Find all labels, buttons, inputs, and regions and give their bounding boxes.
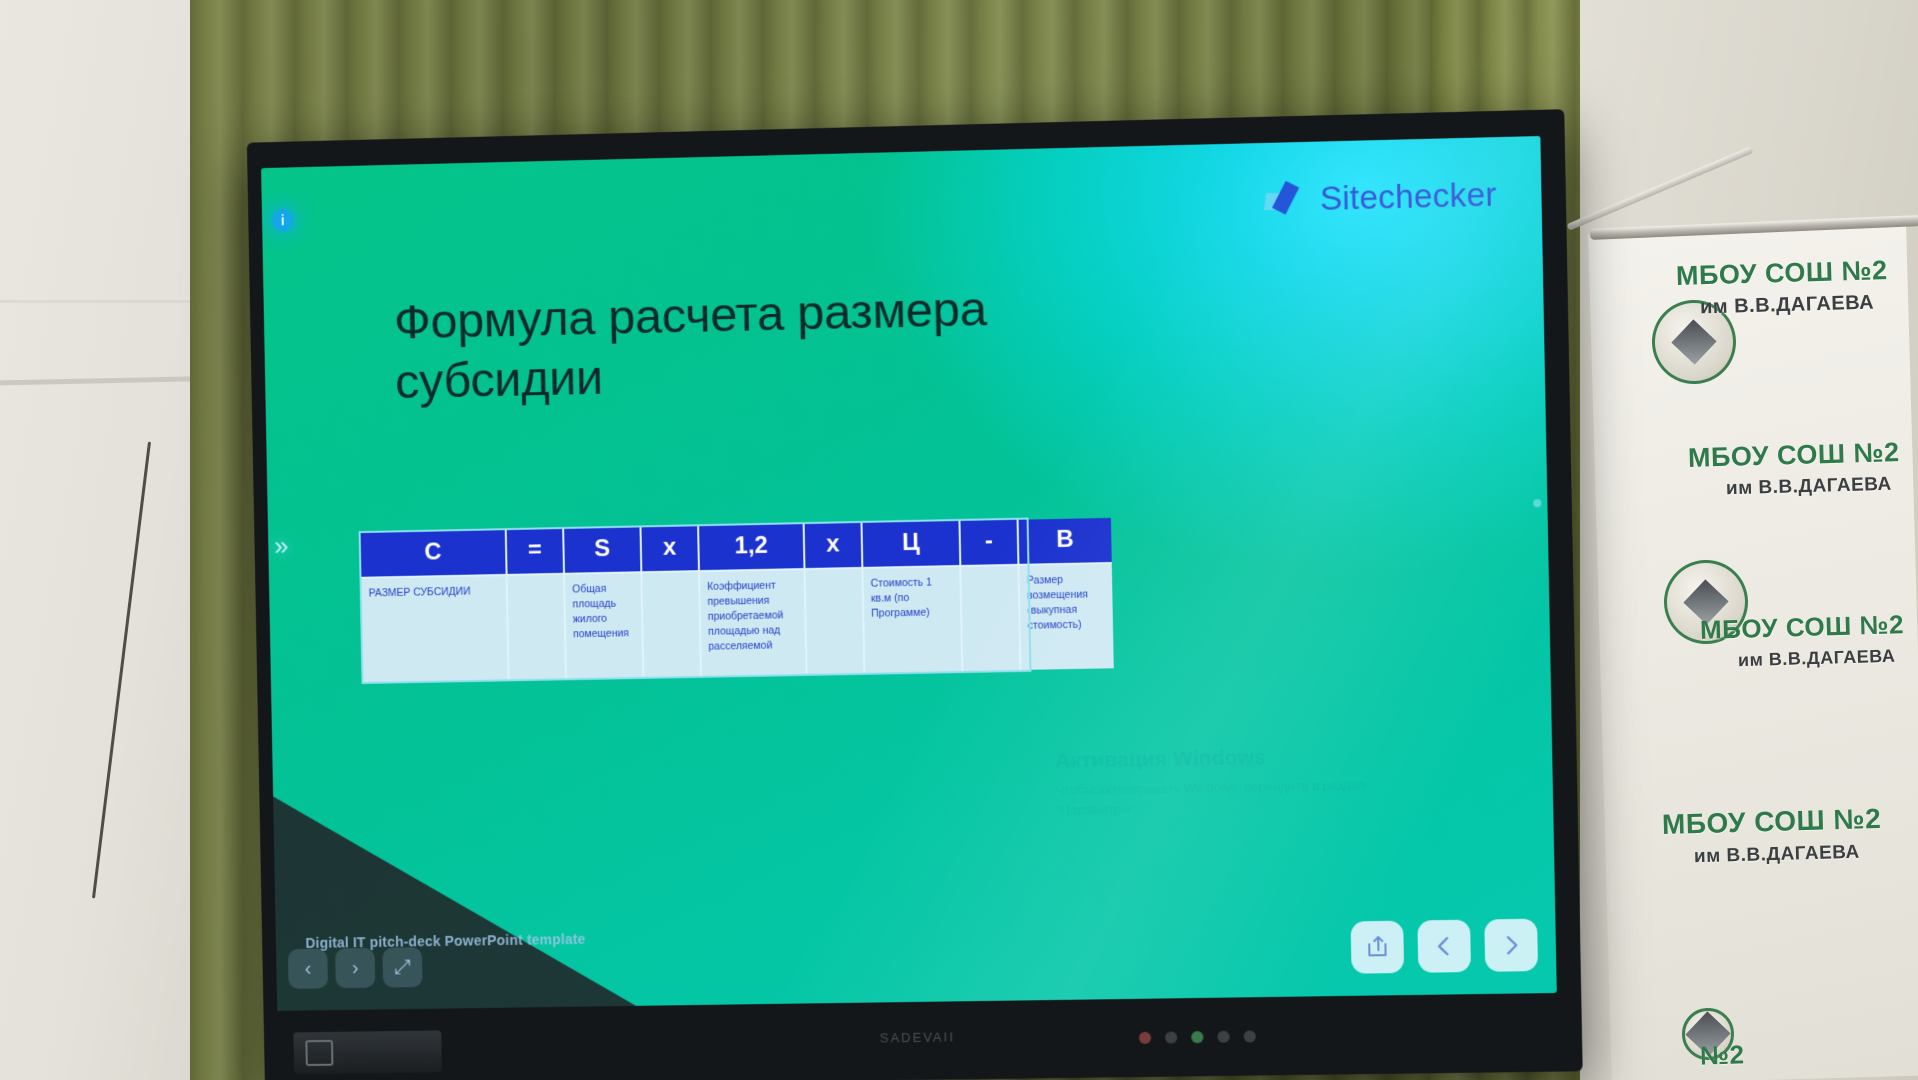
formula-column: СРАЗМЕР СУБСИДИИ (361, 530, 510, 682)
formula-body-cell: Размер возмещения (выкупная стоимость) (1019, 564, 1113, 670)
formula-body-cell: Общая площадь жилого помещения (565, 573, 642, 678)
previous-slide-button[interactable] (1417, 920, 1471, 973)
formula-column: ЦСтоимость 1 кв.м (по Программе) (862, 521, 963, 673)
info-badge[interactable]: i (272, 209, 294, 231)
player-controls-right (1351, 919, 1539, 974)
activation-heading: Активация Windows (1055, 744, 1365, 773)
banner-text: им В.В.ДАГАЕВА (1694, 842, 1860, 869)
tv-port-row (1139, 1021, 1402, 1051)
port-indicator (1217, 1031, 1229, 1043)
formula-body-cell: Стоимость 1 кв.м (по Программе) (863, 567, 961, 673)
logo-wordmark: Sitechecker (1320, 175, 1498, 218)
formula-column: = (507, 529, 567, 679)
formula-body-cell (806, 569, 864, 674)
room-scene: МБОУ СОШ №2 им В.В.ДАГАЕВА МБОУ СОШ №2 и… (0, 0, 1918, 1080)
port-indicator (1244, 1030, 1256, 1042)
formula-column: ВРазмер возмещения (выкупная стоимость) (1019, 518, 1114, 670)
formula-body-cell: РАЗМЕР СУБСИДИИ (361, 576, 507, 682)
formula-header-cell: x (641, 526, 698, 573)
formula-column: x (641, 526, 701, 677)
checkmark-icon (1265, 182, 1306, 217)
banner-text: МБОУ СОШ №2 (1662, 803, 1882, 841)
formula-header-cell: В (1019, 518, 1112, 566)
share-icon (1365, 935, 1390, 959)
formula-header-cell: Ц (862, 521, 959, 569)
presentation-slide: i » Sitechecker Формула расчета размера … (261, 136, 1557, 1011)
formula-column: - (960, 520, 1021, 671)
banner-text: №2 (1700, 1039, 1745, 1071)
power-icon (305, 1040, 333, 1066)
share-button[interactable] (1351, 921, 1405, 974)
player-controls-left: ‹ › ⤢ (288, 947, 423, 989)
formula-header-cell: = (507, 529, 563, 576)
next-button-small[interactable]: › (335, 948, 375, 988)
edge-indicator-dot (1533, 499, 1541, 507)
formula-header-cell: S (564, 527, 640, 574)
formula-header-cell: 1,2 (699, 524, 803, 572)
formula-body-cell (508, 575, 565, 680)
tv-screen: i » Sitechecker Формула расчета размера … (261, 136, 1557, 1011)
formula-header-cell: - (960, 520, 1017, 567)
tv-brand-label: SADEVAII (880, 1029, 955, 1045)
formula-column: SОбщая площадь жилого помещения (564, 527, 644, 678)
formula-column: 1,2Коэффициент превышения приобретаемой … (699, 524, 807, 676)
slide-title: Формула расчета размера субсидии (394, 280, 1013, 413)
sitechecker-logo: Sitechecker (1265, 175, 1497, 219)
fullscreen-button-small[interactable]: ⤢ (382, 947, 422, 987)
formula-table: СРАЗМЕР СУБСИДИИ=SОбщая площадь жилого п… (361, 520, 1030, 682)
banner-text: им В.В.ДАГАЕВА (1700, 292, 1875, 320)
port-indicator (1139, 1032, 1151, 1044)
banner-text: МБОУ СОШ №2 (1676, 255, 1888, 292)
television: i » Sitechecker Формула расчета размера … (247, 109, 1583, 1080)
formula-body-cell (961, 566, 1019, 671)
prev-button-small[interactable]: ‹ (288, 949, 328, 989)
windows-activation-watermark: Активация Windows Чтобы активировать Win… (1055, 744, 1366, 819)
next-chevron-icon[interactable]: » (274, 531, 289, 562)
banner-text: МБОУ СОШ №2 (1700, 609, 1905, 646)
next-slide-button[interactable] (1484, 919, 1538, 972)
formula-header-cell: x (805, 523, 862, 570)
chevron-right-icon (1499, 933, 1524, 958)
banner-text: им В.В.ДАГАЕВА (1726, 474, 1892, 501)
formula-body-cell (642, 572, 700, 677)
chevron-left-icon (1432, 934, 1457, 959)
tv-control-panel (293, 1030, 442, 1074)
formula-column: x (805, 523, 866, 674)
port-indicator (1165, 1031, 1177, 1043)
activation-line-2: "Параметры". (1056, 795, 1366, 820)
formula-body-cell: Коэффициент превышения приобретаемой пло… (700, 570, 806, 676)
banner-text: МБОУ СОШ №2 (1688, 437, 1900, 474)
formula-header-cell: С (361, 530, 506, 579)
port-indicator (1191, 1031, 1203, 1043)
banner-text: им В.В.ДАГАЕВА (1738, 646, 1896, 671)
